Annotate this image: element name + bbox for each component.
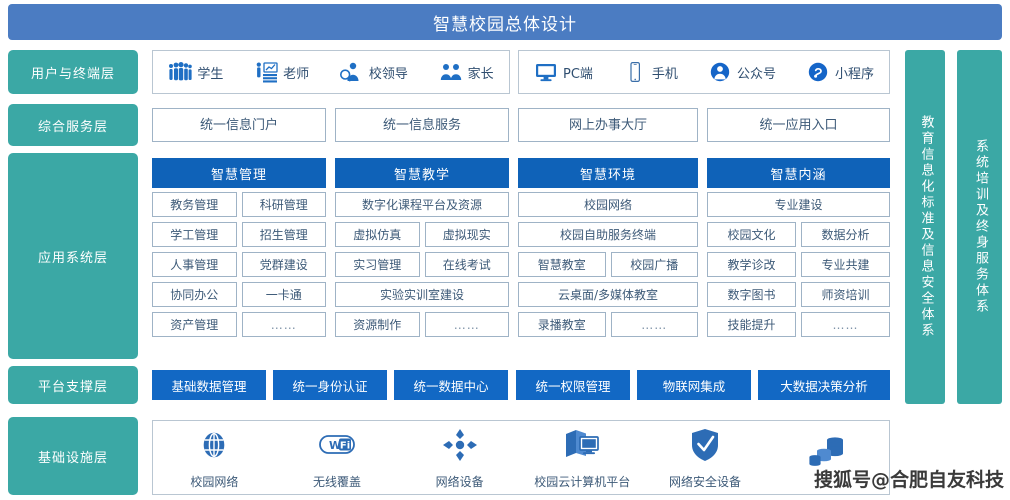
terminal-item[interactable]: PC端 [534,61,593,83]
app-row: 技能提升 …… [707,312,890,337]
user-groups-row: 学生 老师 [153,51,509,93]
layer-label-application-system: 应用系统层 [8,153,138,359]
infra-item[interactable]: 网络安全设备 [645,426,765,490]
terminal-label: PC端 [563,63,593,82]
app-column-body-1: 数字化课程平台及资源 虚拟仿真 虚拟现实 实习管理 在线考试 实验实训室建设 资… [335,192,509,337]
app-item[interactable]: 数据分析 [801,222,890,247]
terminal-item[interactable]: 手机 [623,61,678,83]
side-bar-training: 系统培训及终身服务体系 [957,50,1002,404]
wifi-icon: Wi Fi [317,426,357,464]
infra-label: 网络安全设备 [669,473,741,490]
service-label: 统一应用入口 [759,119,837,132]
mini-program-icon [806,61,830,83]
app-column-header-2: 智慧环境 [518,158,698,188]
user-group-item[interactable]: 老师 [254,61,309,83]
app-item[interactable]: 虚拟现实 [425,222,510,247]
app-column-header-label: 智慧环境 [580,164,636,183]
official-account-person-icon [708,61,732,83]
app-item-more[interactable]: …… [801,312,890,337]
layer-label-integrated-service: 综合服务层 [8,104,138,146]
app-item[interactable]: 云桌面/多媒体教室 [518,282,698,307]
app-item[interactable]: 教务管理 [152,192,237,217]
service-box-0[interactable]: 统一信息门户 [152,108,326,142]
app-row: 协同办公 一卡通 [152,282,326,307]
layer-label-platform-support: 平台支撑层 [8,366,138,404]
app-row: 教务管理 科研管理 [152,192,326,217]
terminal-label: 小程序 [835,63,874,82]
app-column-body-0: 教务管理 科研管理 学工管理 招生管理 人事管理 党群建设 协同办公 一卡通 资… [152,192,326,337]
app-item[interactable]: 校园文化 [707,222,796,247]
layer-label-infrastructure: 基础设施层 [8,417,138,495]
platform-chip-4[interactable]: 物联网集成 [637,370,751,400]
user-group-item[interactable]: 家长 [439,61,494,83]
service-label: 网上办事大厅 [569,119,647,132]
page-title: 智慧校园总体设计 [433,10,577,35]
desktop-monitor-icon [534,61,558,83]
user-group-label: 校领导 [369,63,408,82]
service-label: 统一信息服务 [383,119,461,132]
side-bar-standards: 教育信息化标准及信息安全体系 [905,50,945,404]
app-column-header-label: 智慧教学 [394,164,450,183]
side-bar-label: 教育信息化标准及信息安全体系 [918,115,933,339]
app-item[interactable]: 智慧教室 [518,252,606,277]
user-group-item[interactable]: 校领导 [340,61,408,83]
app-item[interactable]: 数字化课程平台及资源 [335,192,509,217]
terminals-row: PC端 手机 [519,51,889,93]
infra-label: 校园云计算机平台 [534,473,630,490]
side-bar-label: 系统培训及终身服务体系 [972,139,987,315]
shield-check-icon [685,426,725,464]
network-device-icon [440,426,480,464]
user-group-item[interactable]: 学生 [168,61,223,83]
globe-icon [194,426,234,464]
infrastructure-panel: 校园网络 Wi Fi 无线覆盖 [152,420,890,495]
people-group-icon [168,61,192,83]
app-row: 数字图书 师资培训 [707,282,890,307]
app-row: 智慧教室 校园广播 [518,252,698,277]
watermark: 搜狐号@合肥自友科技 [814,465,1004,492]
app-item[interactable]: 协同办公 [152,282,237,307]
app-item[interactable]: 专业共建 [801,252,890,277]
layer-label-text: 应用系统层 [38,247,108,266]
service-box-3[interactable]: 统一应用入口 [707,108,890,142]
app-item[interactable]: 实习管理 [335,252,420,277]
platform-chip-0[interactable]: 基础数据管理 [152,370,266,400]
app-item[interactable]: 虚拟仿真 [335,222,420,247]
app-row: 校园文化 数据分析 [707,222,890,247]
infra-item[interactable]: Wi Fi 无线覆盖 [277,426,397,490]
infra-item[interactable]: 网络设备 [400,426,520,490]
app-row: 学工管理 招生管理 [152,222,326,247]
app-item[interactable]: 校园自助服务终端 [518,222,698,247]
app-item[interactable]: 资产管理 [152,312,237,337]
app-row: 实验实训室建设 [335,282,509,307]
app-item[interactable]: 校园网络 [518,192,698,217]
platform-chip-1[interactable]: 统一身份认证 [273,370,387,400]
terminal-item[interactable]: 公众号 [708,61,776,83]
infra-label: 网络设备 [436,473,484,490]
app-column-header-label: 智慧管理 [211,164,267,183]
app-row: 虚拟仿真 虚拟现实 [335,222,509,247]
app-column-header-0: 智慧管理 [152,158,326,188]
service-box-2[interactable]: 网上办事大厅 [518,108,698,142]
service-label: 统一信息门户 [200,119,278,132]
app-row: 云桌面/多媒体教室 [518,282,698,307]
app-column-header-1: 智慧教学 [335,158,509,188]
platform-chip-5[interactable]: 大数据决策分析 [758,370,890,400]
infrastructure-row: 校园网络 Wi Fi 无线覆盖 [153,421,889,494]
app-item-more[interactable]: …… [611,312,699,337]
user-groups-panel: 学生 老师 [152,50,510,94]
app-item[interactable]: 技能提升 [707,312,796,337]
app-item[interactable]: 师资培训 [801,282,890,307]
app-item[interactable]: 录播教室 [518,312,606,337]
infra-label: 无线覆盖 [313,473,361,490]
terminal-item[interactable]: 小程序 [806,61,874,83]
app-item[interactable]: 专业建设 [707,192,890,217]
app-item[interactable]: 实验实训室建设 [335,282,509,307]
app-column-body-2: 校园网络 校园自助服务终端 智慧教室 校园广播 云桌面/多媒体教室 录播教室 …… [518,192,698,337]
app-row: 实习管理 在线考试 [335,252,509,277]
school-leader-icon [340,61,364,83]
user-group-label: 学生 [197,63,223,82]
platform-chip-2[interactable]: 统一数据中心 [394,370,508,400]
smartphone-icon [623,61,647,83]
app-item[interactable]: 学工管理 [152,222,237,247]
user-group-label: 家长 [468,63,494,82]
infra-item[interactable]: 校园云计算机平台 [522,426,642,490]
smart-campus-architecture-diagram: 智慧校园总体设计 用户与终端层 综合服务层 应用系统层 平台支撑层 基础设施层 [0,0,1010,500]
parents-icon [439,61,463,83]
user-group-label: 老师 [283,63,309,82]
app-column-body-3: 专业建设 校园文化 数据分析 教学诊改 专业共建 数字图书 师资培训 技能提升 … [707,192,890,337]
infra-label: 校园网络 [190,473,238,490]
app-item[interactable]: 资源制作 [335,312,420,337]
app-item[interactable]: 党群建设 [242,252,327,277]
layer-label-text: 综合服务层 [38,116,108,135]
layer-label-user-terminal: 用户与终端层 [8,50,138,94]
app-row: 人事管理 党群建设 [152,252,326,277]
layer-label-text: 用户与终端层 [31,63,115,82]
terminal-label: 手机 [652,63,678,82]
app-item[interactable]: 一卡通 [242,282,327,307]
app-row: 资源制作 …… [335,312,509,337]
page-title-bar: 智慧校园总体设计 [8,4,1002,40]
layer-label-text: 基础设施层 [38,447,108,466]
terminal-label: 公众号 [737,63,776,82]
app-item[interactable]: 数字图书 [707,282,796,307]
app-row: 资产管理 …… [152,312,326,337]
layer-label-text: 平台支撑层 [38,376,108,395]
infra-item[interactable]: 校园网络 [154,426,274,490]
app-item-more[interactable]: …… [425,312,510,337]
app-item[interactable]: 在线考试 [425,252,510,277]
service-box-1[interactable]: 统一信息服务 [335,108,509,142]
app-column-header-3: 智慧内涵 [707,158,890,188]
platform-chip-3[interactable]: 统一权限管理 [516,370,630,400]
cloud-computer-icon [562,426,602,464]
app-row: 教学诊改 专业共建 [707,252,890,277]
app-row: 专业建设 [707,192,890,217]
svg-text:Fi: Fi [340,440,350,451]
app-item[interactable]: 教学诊改 [707,252,796,277]
app-item[interactable]: 科研管理 [242,192,327,217]
app-row: 录播教室 …… [518,312,698,337]
app-row: 校园自助服务终端 [518,222,698,247]
app-item[interactable]: 人事管理 [152,252,237,277]
teacher-presentation-icon [254,61,278,83]
app-item[interactable]: 招生管理 [242,222,327,247]
app-item-more[interactable]: …… [242,312,327,337]
terminals-panel: PC端 手机 [518,50,890,94]
app-column-header-label: 智慧内涵 [770,164,826,183]
app-row: 数字化课程平台及资源 [335,192,509,217]
app-item[interactable]: 校园广播 [611,252,699,277]
app-row: 校园网络 [518,192,698,217]
